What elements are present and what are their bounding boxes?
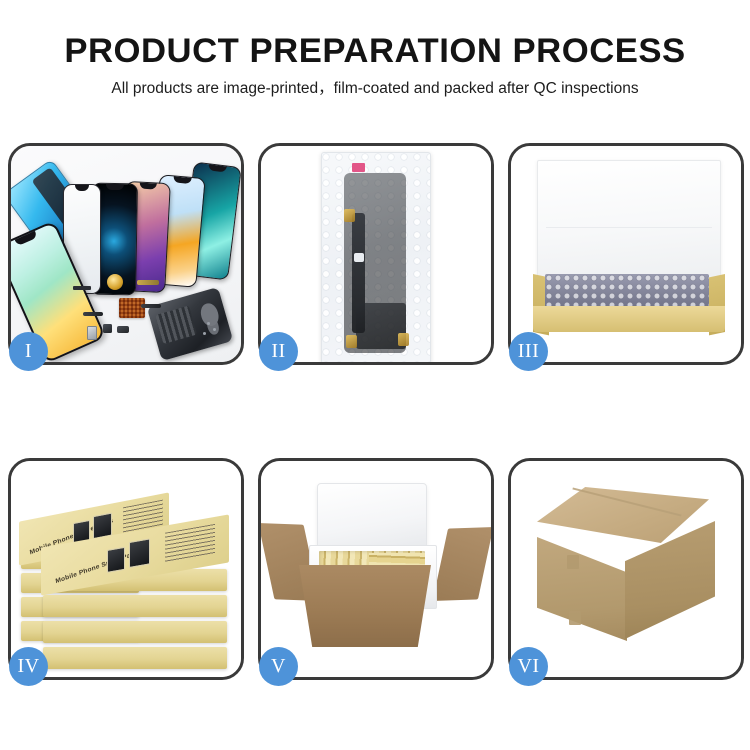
step-badge-2: II — [259, 332, 298, 371]
step-image-5 — [261, 461, 491, 677]
page-header: PRODUCT PREPARATION PROCESS All products… — [0, 0, 750, 100]
bubble-wrap-bag-icon — [321, 152, 431, 362]
step-badge-6: VI — [509, 647, 548, 686]
ic-chip-icon — [103, 324, 112, 333]
step-image-4: Mobile Phone Spare Parts Mobile Phone Sp… — [11, 461, 241, 677]
box-lid-phone-graphic-icon — [129, 538, 150, 568]
foam-lid-icon — [317, 483, 427, 551]
step-panel-5: V — [258, 458, 494, 680]
pink-qc-sticker-icon — [352, 163, 365, 172]
carton-flap-right-icon — [433, 527, 491, 601]
bubble-wrapped-contents-icon — [545, 274, 709, 310]
step-image-1 — [11, 146, 241, 362]
gold-contact-icon — [344, 209, 355, 222]
step-image-6 — [511, 461, 741, 677]
box-lid-spec-lines-icon — [165, 524, 215, 563]
stacked-box-icon — [43, 621, 227, 643]
step-panel-1: I — [8, 143, 244, 365]
carton-left-face-icon — [537, 537, 627, 641]
carton-tape-upper-icon — [567, 555, 579, 569]
flex-cable-dark-icon — [141, 304, 161, 308]
antenna-strip-icon — [73, 286, 91, 290]
process-step-grid: I II III — [8, 143, 744, 680]
screw-2-icon — [213, 328, 216, 331]
screw-icon — [207, 322, 210, 325]
carton-tape-lower-icon — [569, 611, 581, 625]
step-panel-2: II — [258, 143, 494, 365]
step-badge-4: IV — [9, 647, 48, 686]
carton-body-icon — [299, 565, 431, 647]
phone-chassis-icon — [147, 287, 234, 361]
stacked-box-icon — [43, 595, 227, 617]
copper-mesh-icon — [119, 298, 145, 318]
page-subtitle: All products are image-printed，film-coat… — [0, 78, 750, 100]
battery-cell-icon — [87, 326, 97, 340]
screw-3-icon — [203, 332, 206, 335]
stacked-box-icon — [43, 647, 227, 669]
speaker-coil-icon — [107, 274, 123, 290]
step-image-2 — [261, 146, 491, 362]
box-lid-phone-graphic-icon — [107, 547, 125, 573]
carton-top-face-icon — [537, 487, 709, 543]
loudspeaker-icon — [117, 326, 129, 333]
lcd-ic-icon — [354, 253, 364, 262]
gold-contact-2-icon — [346, 335, 357, 348]
step-badge-3: III — [509, 332, 548, 371]
flex-cable-gold-icon — [137, 280, 159, 285]
step-panel-6: VI — [508, 458, 744, 680]
step-badge-1: I — [9, 332, 48, 371]
page-title: PRODUCT PREPARATION PROCESS — [0, 30, 750, 72]
step-panel-3: III — [508, 143, 744, 365]
gold-contact-3-icon — [398, 333, 409, 346]
box-stack-icon: Mobile Phone Spare Parts Mobile Phone Sp… — [17, 471, 239, 671]
step-image-3 — [511, 146, 741, 362]
step-badge-5: V — [259, 647, 298, 686]
step-panel-4: Mobile Phone Spare Parts Mobile Phone Sp… — [8, 458, 244, 680]
box-front-panel-icon — [533, 306, 725, 332]
box-lid-icon — [537, 160, 721, 284]
box-lid-text-front: Mobile Phone Spare Parts — [55, 549, 140, 585]
flex-cable-dark-2-icon — [83, 312, 103, 316]
